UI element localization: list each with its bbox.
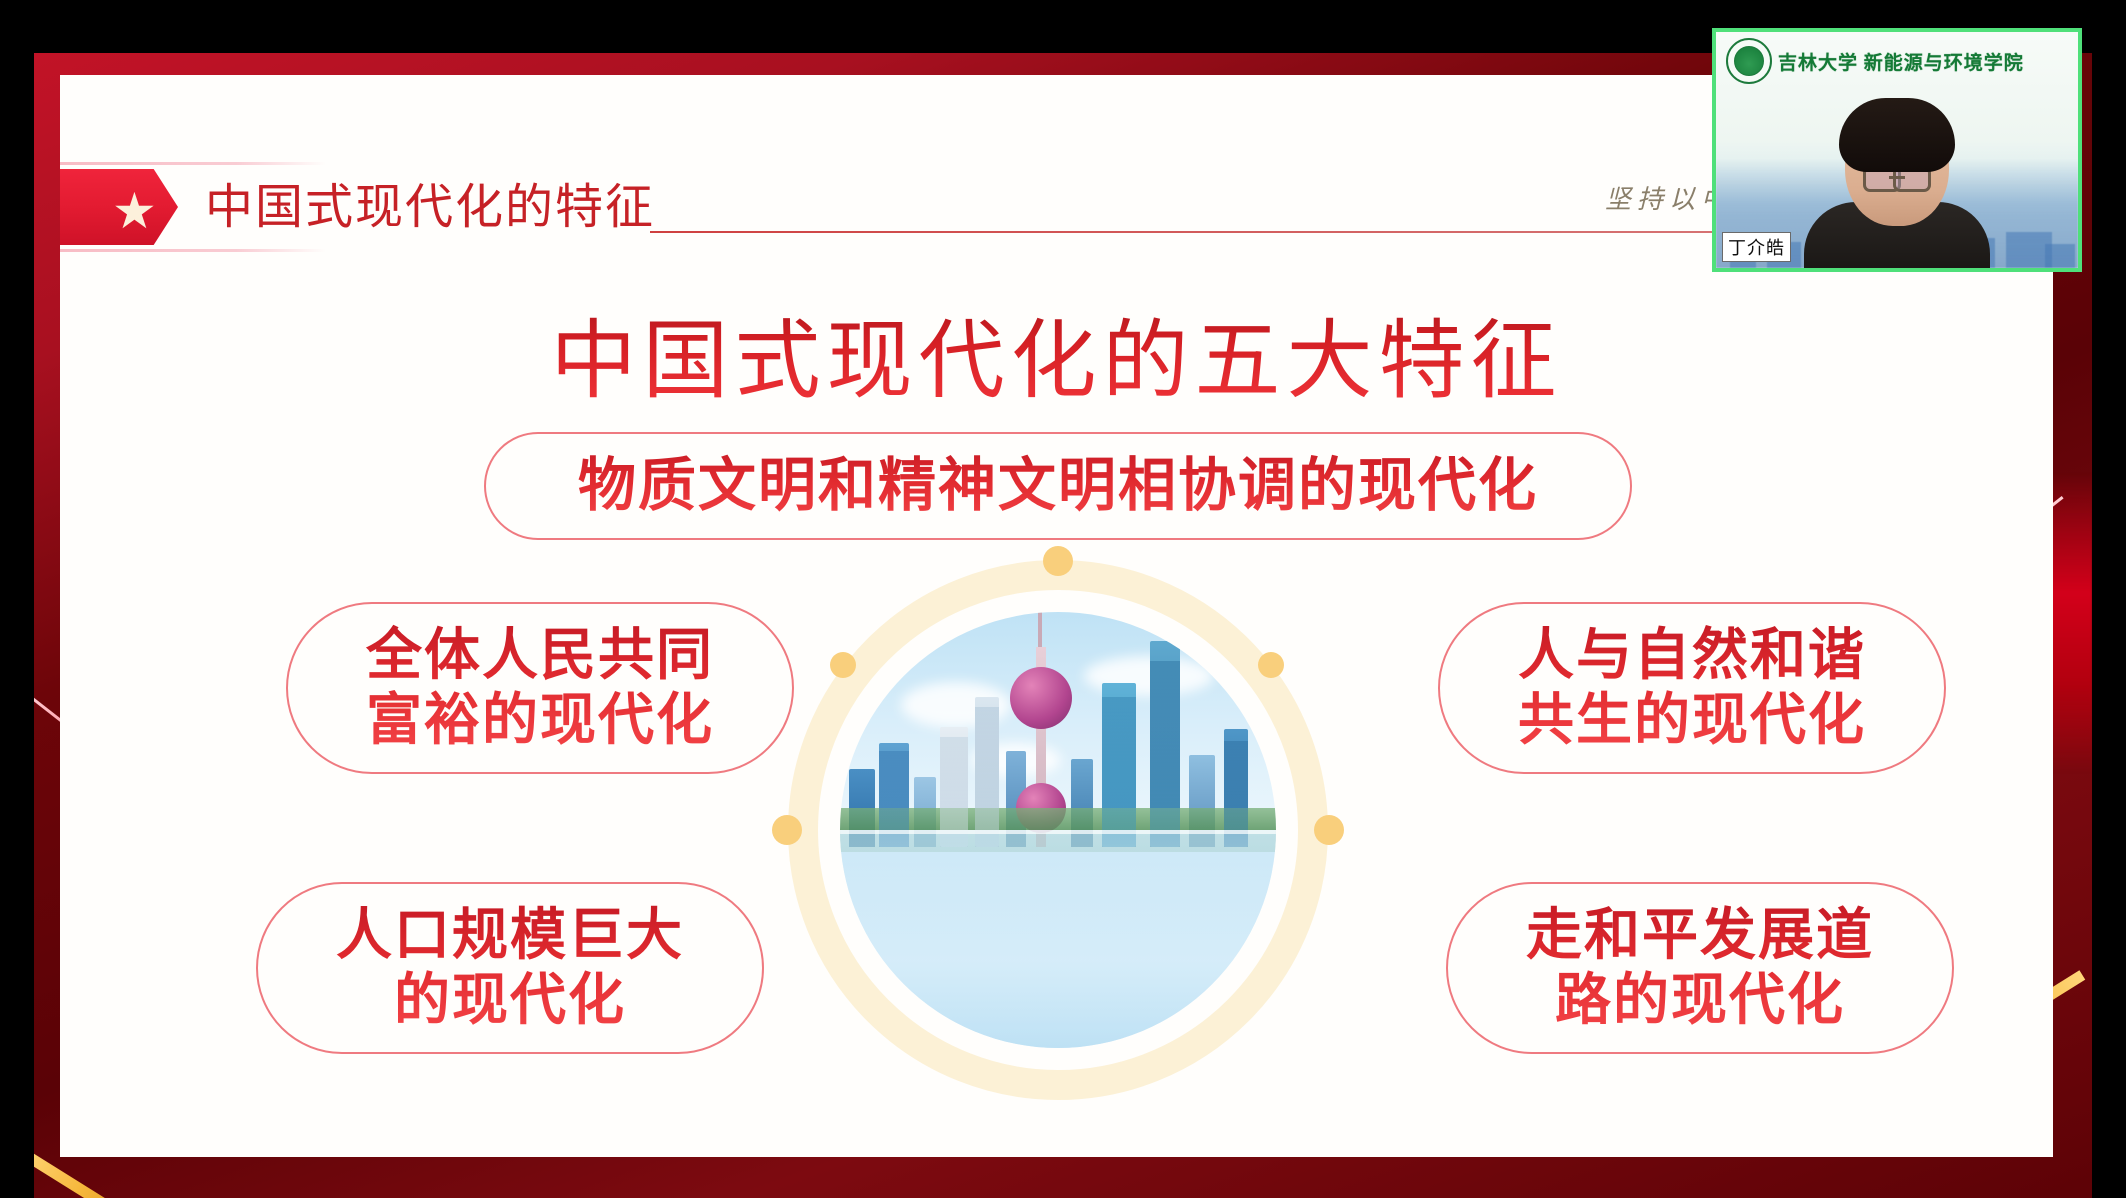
feature-pill-top-left-line2: 富裕的现代化: [366, 688, 714, 753]
slide-main-title: 中国式现代化的五大特征: [60, 290, 2053, 415]
feature-pill-bottom-right: 走和平发展道 路的现代化: [1446, 882, 1954, 1054]
feature-pill-bottom-left-line1: 人口规模巨大: [336, 903, 684, 968]
badge-line-bottom: [60, 249, 326, 252]
ring-dot-left: [772, 815, 802, 845]
person-hair: [1839, 98, 1955, 172]
feature-pill-top-right-line1: 人与自然和谐: [1518, 623, 1866, 688]
feature-pill-bottom-left: 人口规模巨大 的现代化: [256, 882, 764, 1054]
star-icon: ★: [112, 186, 157, 236]
feature-pill-top-right-line2: 共生的现代化: [1518, 688, 1866, 753]
water-reflection: [840, 830, 1276, 1048]
feature-pill-top-left: 全体人民共同 富裕的现代化: [286, 602, 794, 774]
feature-pill-top: 物质文明和精神文明相协调的现代化: [484, 432, 1632, 540]
feature-pill-bottom-right-line1: 走和平发展道: [1526, 903, 1874, 968]
feature-pill-top-left-line1: 全体人民共同: [366, 623, 714, 688]
participant-video-person: [1804, 98, 1990, 268]
feature-pill-top-right: 人与自然和谐 共生的现代化: [1438, 602, 1946, 774]
participant-name-label: 丁介皓: [1722, 232, 1791, 262]
ring-dot-top: [1043, 546, 1073, 576]
glasses-bridge: [1889, 176, 1905, 179]
center-graphic: [788, 560, 1328, 1100]
ring-dot-top-left: [830, 652, 856, 678]
section-title: 中国式现代化的特征: [205, 167, 655, 237]
badge-line-top: [60, 162, 326, 165]
webcam-video-tile[interactable]: 吉林大学 新能源与环境学院 丁介皓: [1712, 28, 2082, 272]
pearl-tower-upper-sphere: [1010, 667, 1072, 729]
shanghai-skyline-image: [840, 612, 1276, 1048]
feature-pill-top-label: 物质文明和精神文明相协调的现代化: [578, 452, 1538, 519]
waterline: [840, 830, 1276, 834]
screen: ★ 中国式现代化的特征 坚持以中国式现代化全面 中国式现代化的五大特征 物质文明…: [0, 0, 2126, 1198]
ring-dot-top-right: [1258, 652, 1284, 678]
university-seal-icon: [1726, 38, 1772, 84]
feature-pill-bottom-right-line2: 路的现代化: [1526, 968, 1874, 1033]
ring-dot-right: [1314, 815, 1344, 845]
feature-pill-bottom-left-line2: 的现代化: [336, 968, 684, 1033]
background-org-text: 吉林大学 新能源与环境学院: [1778, 48, 2024, 75]
